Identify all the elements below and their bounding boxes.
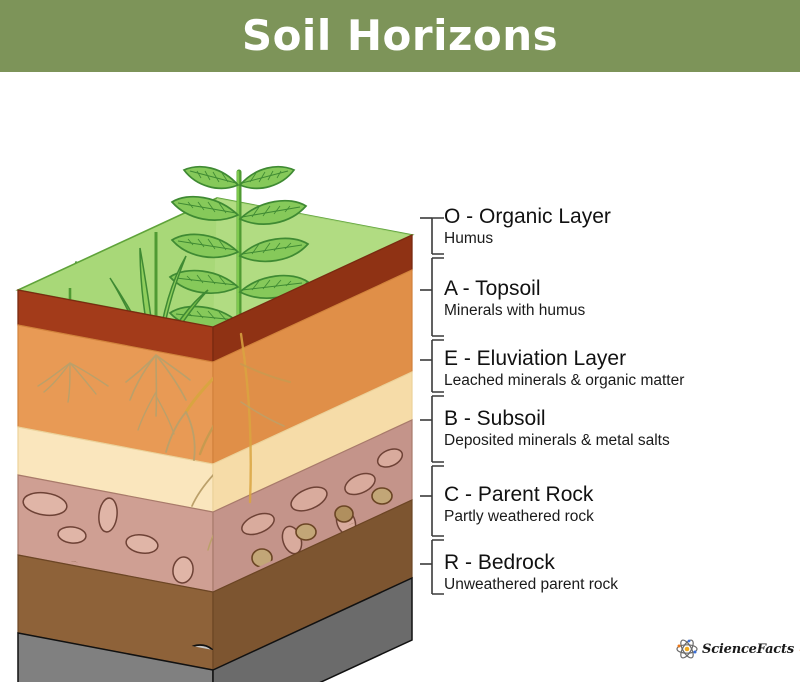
label-subtitle-topsoil: Minerals with humus bbox=[444, 302, 585, 319]
atom-icon bbox=[676, 638, 698, 660]
label-title-organic: O - Organic Layer bbox=[444, 206, 611, 228]
label-eluviation-layer[interactable]: E - Eluviation Layer Leached minerals & … bbox=[444, 348, 684, 389]
site-logo[interactable]: ScienceFacts .net bbox=[676, 638, 800, 660]
label-title-subsoil: B - Subsoil bbox=[444, 408, 670, 430]
label-subtitle-bedrock: Unweathered parent rock bbox=[444, 576, 618, 593]
page-title: Soil Horizons bbox=[242, 15, 558, 57]
label-title-topsoil: A - Topsoil bbox=[444, 278, 585, 300]
label-organic-layer[interactable]: O - Organic Layer Humus bbox=[444, 206, 611, 247]
label-subtitle-eluviation: Leached minerals & organic matter bbox=[444, 372, 684, 389]
diagram-stage: O - Organic Layer Humus A - Topsoil Mine… bbox=[0, 72, 800, 682]
label-topsoil[interactable]: A - Topsoil Minerals with humus bbox=[444, 278, 585, 319]
label-subsoil[interactable]: B - Subsoil Deposited minerals & metal s… bbox=[444, 408, 670, 449]
label-title-bedrock: R - Bedrock bbox=[444, 552, 618, 574]
leaf bbox=[184, 167, 238, 189]
label-title-eluviation: E - Eluviation Layer bbox=[444, 348, 684, 370]
label-subtitle-organic: Humus bbox=[444, 230, 611, 247]
leader-brackets bbox=[420, 218, 444, 594]
label-subtitle-subsoil: Deposited minerals & metal salts bbox=[444, 432, 670, 449]
label-title-parent-rock: C - Parent Rock bbox=[444, 484, 594, 506]
label-subtitle-parent-rock: Partly weathered rock bbox=[444, 508, 594, 525]
leaf bbox=[240, 167, 294, 189]
logo-wordmark: ScienceFacts bbox=[702, 642, 794, 657]
soil-horizons-infographic: Soil Horizons bbox=[0, 0, 800, 682]
label-parent-rock[interactable]: C - Parent Rock Partly weathered rock bbox=[444, 484, 594, 525]
title-banner: Soil Horizons bbox=[0, 0, 800, 72]
label-bedrock[interactable]: R - Bedrock Unweathered parent rock bbox=[444, 552, 618, 593]
